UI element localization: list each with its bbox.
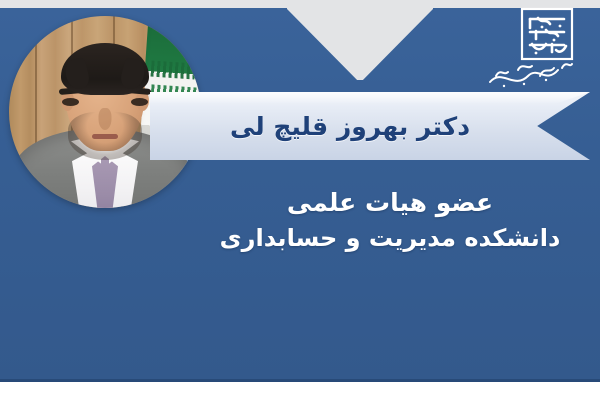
profile-banner: دکتر بهروز قلیچ لی عضو هیات علمی دانشکده… <box>0 0 600 400</box>
hair <box>61 43 149 95</box>
subtitle-faculty: دانشکده مدیریت و حسابداری <box>200 222 580 254</box>
page-title: دکتر بهروز قلیچ لی <box>150 92 550 160</box>
bottom-white-band <box>0 382 600 400</box>
shahid-beheshti-university-logo-icon <box>484 6 582 98</box>
mouth <box>92 134 118 139</box>
eye-left <box>62 98 79 106</box>
subtitle-block: عضو هیات علمی دانشکده مدیریت و حسابداری <box>200 186 580 254</box>
eye-right <box>131 98 148 106</box>
subtitle-role: عضو هیات علمی <box>200 186 580 220</box>
nose <box>99 108 112 130</box>
